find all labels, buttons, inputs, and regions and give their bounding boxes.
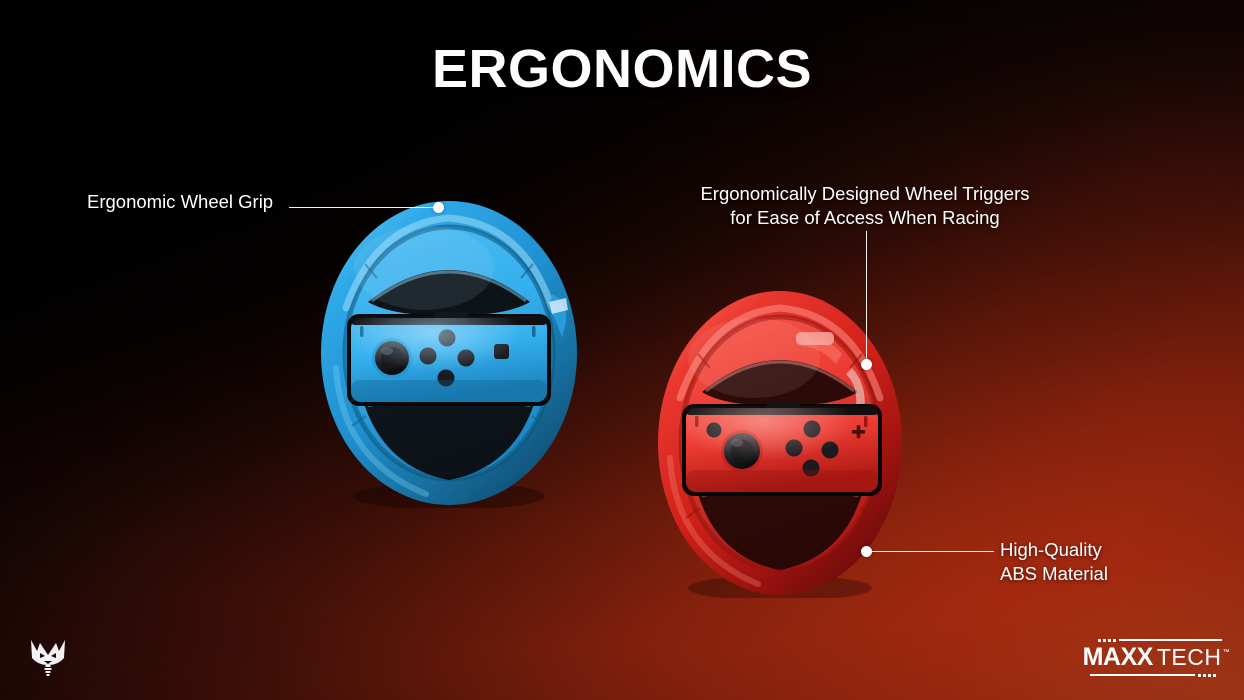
logo-trademark: ™ <box>1222 649 1229 656</box>
leader-dot-abs <box>861 546 872 557</box>
joycon-right-red <box>682 402 882 496</box>
product-wheel-blue <box>316 198 582 508</box>
joycon-left-blue <box>347 312 551 406</box>
brand-mascot-icon <box>28 636 68 678</box>
logo-bar-bottom <box>1090 674 1195 677</box>
leader-dot-grip <box>433 202 444 213</box>
leader-dot-triggers <box>861 359 872 370</box>
brand-logo-maxx-tech: MAXX TECH ™ <box>1090 637 1222 678</box>
logo-wordmark: MAXX TECH ™ <box>1090 645 1222 670</box>
logo-maxx-text: MAXX <box>1083 645 1153 670</box>
slide-canvas: ERGONOMICS <box>0 0 1244 700</box>
leader-line-grip <box>289 207 439 209</box>
logo-tech-text: TECH <box>1157 646 1222 669</box>
background-vignette <box>0 0 1244 700</box>
logo-bar-top <box>1119 639 1222 642</box>
callout-ergonomic-wheel-grip: Ergonomic Wheel Grip <box>87 190 273 214</box>
logo-dots-top <box>1098 639 1116 642</box>
leader-line-triggers <box>866 231 868 365</box>
callout-abs-material: High-Quality ABS Material <box>1000 538 1108 587</box>
leader-line-abs <box>872 551 994 553</box>
logo-rule-bottom <box>1090 672 1222 678</box>
logo-dots-bottom <box>1198 674 1216 677</box>
callout-wheel-triggers: Ergonomically Designed Wheel Triggers fo… <box>690 182 1040 231</box>
page-title: ERGONOMICS <box>0 42 1244 96</box>
